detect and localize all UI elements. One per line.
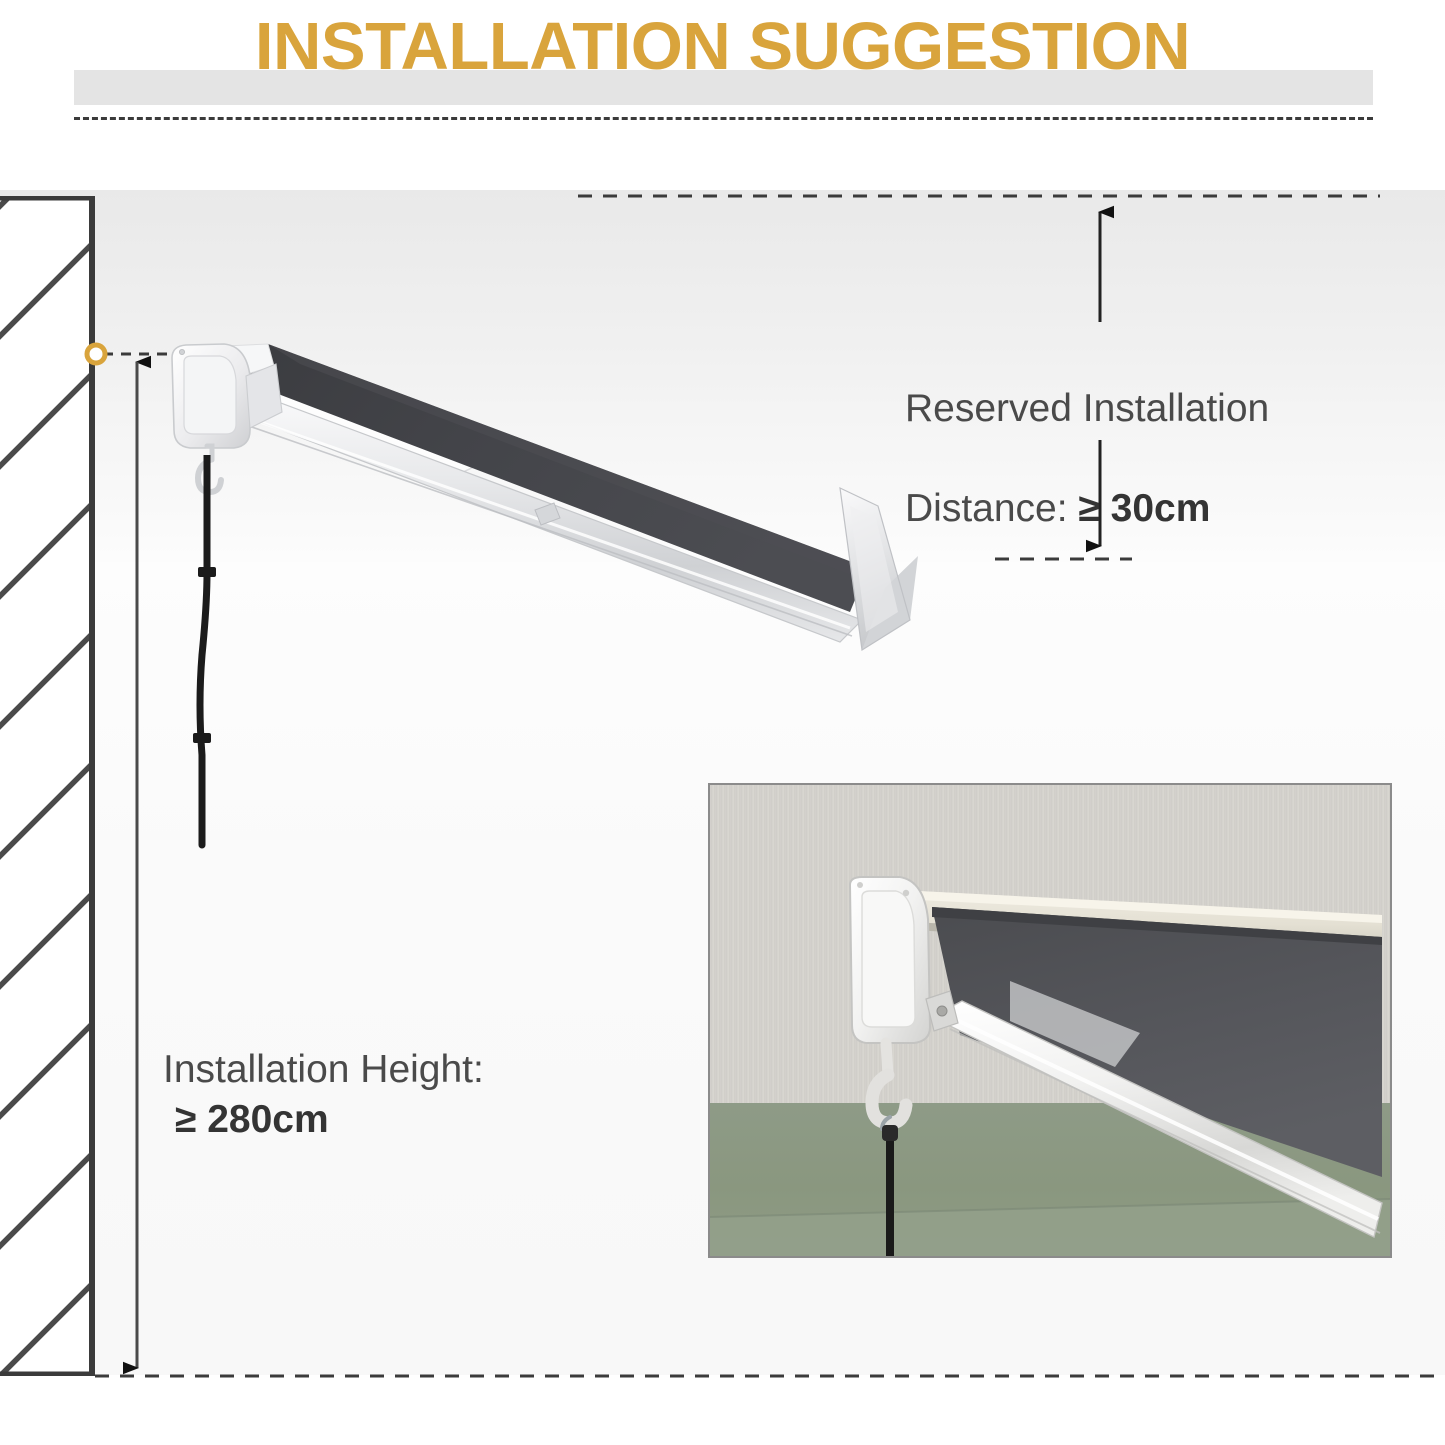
retractable-patio-awning [150, 320, 970, 660]
installation-height-value: ≥ 280cm [175, 1095, 643, 1145]
reserved-distance-value: ≥ 30cm [1078, 487, 1210, 530]
installation-height-label: Installation Height: ≥ 280cm [163, 995, 643, 1195]
reserved-distance-line1: Reserved Installation [905, 387, 1269, 430]
awning-fabric-canopy [210, 338, 895, 612]
inset-photo-bracket-closeup [708, 783, 1392, 1258]
crank-operating-rod [180, 455, 250, 855]
reserved-distance-line2-prefix: Distance: [905, 487, 1078, 530]
diagram-canvas: INSTALLATION SUGGESTION [0, 0, 1445, 1445]
installation-height-line1: Installation Height: [163, 1048, 484, 1091]
wall-mount-point-marker [87, 345, 105, 363]
inset-photo-scene [710, 785, 1390, 1256]
reserved-distance-label: Reserved Installation Distance: ≥ 30cm [905, 334, 1325, 534]
